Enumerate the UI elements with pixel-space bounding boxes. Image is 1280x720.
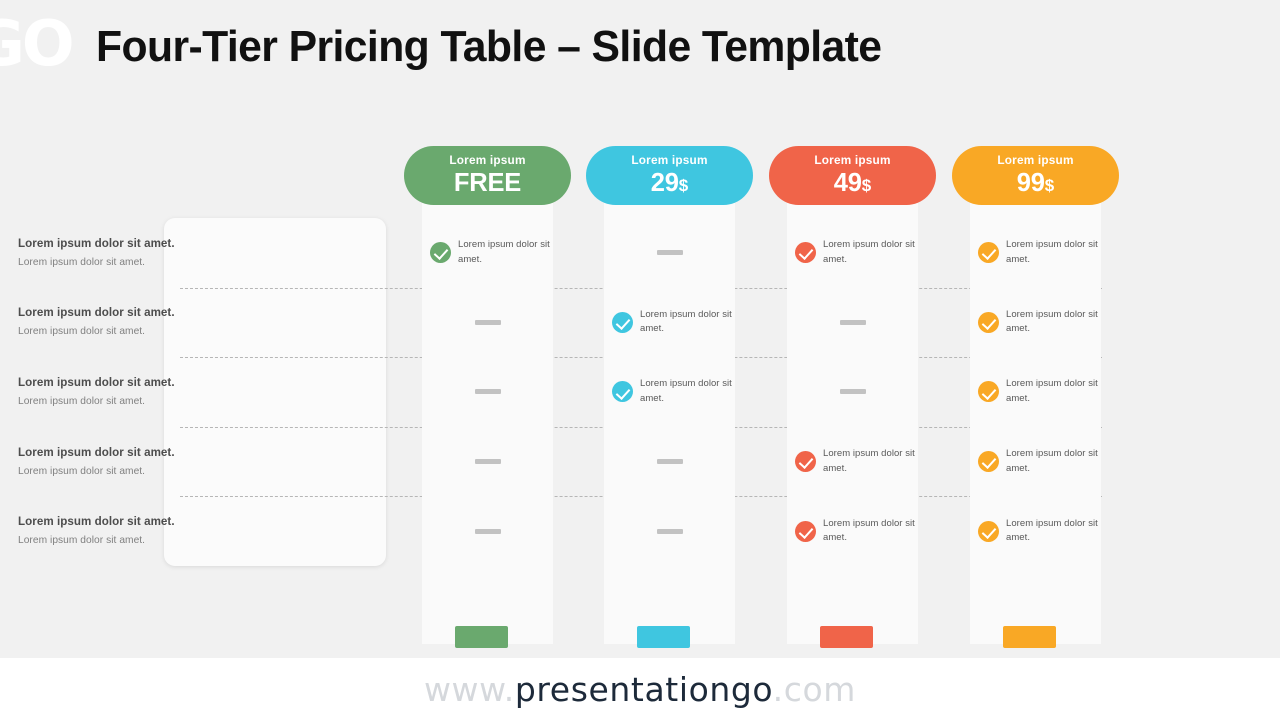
not-included-dash-icon — [840, 320, 866, 325]
plan-header-free[interactable]: Lorem ipsumFREE — [404, 146, 571, 205]
plan-price-amount: 49 — [834, 169, 862, 197]
not-included-dash-icon — [840, 389, 866, 394]
presentationgo-logo: GO — [0, 12, 66, 76]
plan-header-premium[interactable]: Lorem ipsum99$ — [952, 146, 1119, 205]
feature-subtitle: Lorem ipsum dolor sit amet. — [18, 464, 208, 479]
slide-canvas: GO Four-Tier Pricing Table – Slide Templ… — [0, 0, 1280, 658]
feature-title: Lorem ipsum dolor sit amet. — [18, 514, 208, 530]
plan-price-amount: 99 — [1017, 169, 1045, 197]
plan-column-body: Lorem ipsum dolor sit amet.Lorem ipsum d… — [787, 200, 918, 644]
plan-feature-cell: Lorem ipsum dolor sit amet. — [970, 496, 1101, 566]
page-title: Four-Tier Pricing Table – Slide Template — [96, 20, 881, 74]
feature-row: Lorem ipsum dolor sit amet.Lorem ipsum d… — [18, 357, 208, 427]
check-icon — [978, 451, 999, 472]
plan-feature-cell: Lorem ipsum dolor sit amet. — [787, 496, 918, 566]
plan-price: 29$ — [586, 168, 753, 201]
plan-feature-cell: Lorem ipsum dolor sit amet. — [604, 357, 735, 427]
plan-column-pro: Lorem ipsum dolor sit amet.Lorem ipsum d… — [787, 146, 918, 205]
plan-column-body: Lorem ipsum dolor sit amet. — [422, 200, 553, 644]
footer-bar: www.presentationgo.com — [0, 658, 1280, 720]
feature-title: Lorem ipsum dolor sit amet. — [18, 305, 208, 321]
plan-feature-text: Lorem ipsum dolor sit amet. — [823, 238, 918, 267]
plan-feature-cell: Lorem ipsum dolor sit amet. — [970, 427, 1101, 497]
plan-cta-button-basic[interactable] — [637, 626, 690, 648]
plan-price: 99$ — [952, 168, 1119, 201]
feature-row: Lorem ipsum dolor sit amet.Lorem ipsum d… — [18, 427, 208, 497]
plan-price: 49$ — [769, 168, 936, 201]
plan-column-premium: Lorem ipsum dolor sit amet.Lorem ipsum d… — [970, 146, 1101, 205]
plan-feature-text: Lorem ipsum dolor sit amet. — [640, 308, 735, 337]
check-icon — [978, 312, 999, 333]
plan-feature-cell — [604, 218, 735, 288]
plan-label: Lorem ipsum — [404, 152, 571, 168]
plan-feature-cell — [604, 496, 735, 566]
plan-feature-cell: Lorem ipsum dolor sit amet. — [604, 288, 735, 358]
check-icon — [978, 242, 999, 263]
plan-feature-text: Lorem ipsum dolor sit amet. — [823, 447, 918, 476]
feature-title: Lorem ipsum dolor sit amet. — [18, 445, 208, 461]
plan-column-basic: Lorem ipsum dolor sit amet.Lorem ipsum d… — [604, 146, 735, 205]
plan-column-body: Lorem ipsum dolor sit amet.Lorem ipsum d… — [970, 200, 1101, 644]
check-icon — [612, 381, 633, 402]
plan-column-free: Lorem ipsum dolor sit amet.Lorem ipsumFR… — [422, 146, 553, 205]
check-icon — [978, 381, 999, 402]
plan-feature-text: Lorem ipsum dolor sit amet. — [1006, 238, 1101, 267]
check-icon — [795, 451, 816, 472]
plan-cta-button-free[interactable] — [455, 626, 508, 648]
plan-feature-text: Lorem ipsum dolor sit amet. — [1006, 377, 1101, 406]
not-included-dash-icon — [657, 459, 683, 464]
footer-url-prefix: www. — [424, 670, 515, 709]
not-included-dash-icon — [657, 529, 683, 534]
plan-price-currency: $ — [1045, 176, 1054, 195]
plan-feature-cell — [422, 427, 553, 497]
check-icon — [430, 242, 451, 263]
plan-feature-cell: Lorem ipsum dolor sit amet. — [970, 357, 1101, 427]
plan-feature-cell: Lorem ipsum dolor sit amet. — [422, 218, 553, 288]
plan-feature-text: Lorem ipsum dolor sit amet. — [1006, 517, 1101, 546]
plan-feature-text: Lorem ipsum dolor sit amet. — [823, 517, 918, 546]
plan-feature-cell — [787, 357, 918, 427]
plan-label: Lorem ipsum — [586, 152, 753, 168]
feature-title: Lorem ipsum dolor sit amet. — [18, 375, 208, 391]
plan-cta-button-premium[interactable] — [1003, 626, 1056, 648]
plan-price-amount: 29 — [651, 169, 679, 197]
feature-row: Lorem ipsum dolor sit amet.Lorem ipsum d… — [18, 218, 208, 288]
feature-subtitle: Lorem ipsum dolor sit amet. — [18, 533, 208, 548]
plan-price-amount: FREE — [454, 169, 521, 197]
check-icon — [795, 521, 816, 542]
not-included-dash-icon — [475, 320, 501, 325]
plan-price-currency: $ — [679, 176, 688, 195]
plan-feature-cell — [787, 288, 918, 358]
plan-cta-button-pro[interactable] — [820, 626, 873, 648]
plan-feature-cell — [422, 288, 553, 358]
plan-feature-cell: Lorem ipsum dolor sit amet. — [970, 288, 1101, 358]
plan-label: Lorem ipsum — [769, 152, 936, 168]
not-included-dash-icon — [475, 459, 501, 464]
feature-subtitle: Lorem ipsum dolor sit amet. — [18, 324, 208, 339]
plan-feature-cell: Lorem ipsum dolor sit amet. — [787, 218, 918, 288]
plan-price-currency: $ — [862, 176, 871, 195]
not-included-dash-icon — [475, 529, 501, 534]
plan-feature-text: Lorem ipsum dolor sit amet. — [458, 238, 553, 267]
plan-feature-cell — [422, 357, 553, 427]
plan-header-pro[interactable]: Lorem ipsum49$ — [769, 146, 936, 205]
plan-feature-text: Lorem ipsum dolor sit amet. — [640, 377, 735, 406]
plan-feature-text: Lorem ipsum dolor sit amet. — [1006, 447, 1101, 476]
plan-price: FREE — [404, 168, 571, 199]
feature-subtitle: Lorem ipsum dolor sit amet. — [18, 394, 208, 409]
footer-website-url: www.presentationgo.com — [424, 670, 856, 709]
check-icon — [612, 312, 633, 333]
feature-subtitle: Lorem ipsum dolor sit amet. — [18, 255, 208, 270]
plan-label: Lorem ipsum — [952, 152, 1119, 168]
feature-title: Lorem ipsum dolor sit amet. — [18, 236, 208, 252]
feature-row: Lorem ipsum dolor sit amet.Lorem ipsum d… — [18, 288, 208, 358]
plan-header-basic[interactable]: Lorem ipsum29$ — [586, 146, 753, 205]
plan-column-body: Lorem ipsum dolor sit amet.Lorem ipsum d… — [604, 200, 735, 644]
feature-row: Lorem ipsum dolor sit amet.Lorem ipsum d… — [18, 496, 208, 566]
plan-feature-cell: Lorem ipsum dolor sit amet. — [787, 427, 918, 497]
plan-feature-cell — [422, 496, 553, 566]
check-icon — [978, 521, 999, 542]
check-icon — [795, 242, 816, 263]
footer-url-suffix: .com — [773, 670, 856, 709]
plan-feature-cell: Lorem ipsum dolor sit amet. — [970, 218, 1101, 288]
not-included-dash-icon — [475, 389, 501, 394]
footer-url-main: presentationgo — [515, 670, 773, 709]
plan-feature-text: Lorem ipsum dolor sit amet. — [1006, 308, 1101, 337]
plan-feature-cell — [604, 427, 735, 497]
not-included-dash-icon — [657, 250, 683, 255]
